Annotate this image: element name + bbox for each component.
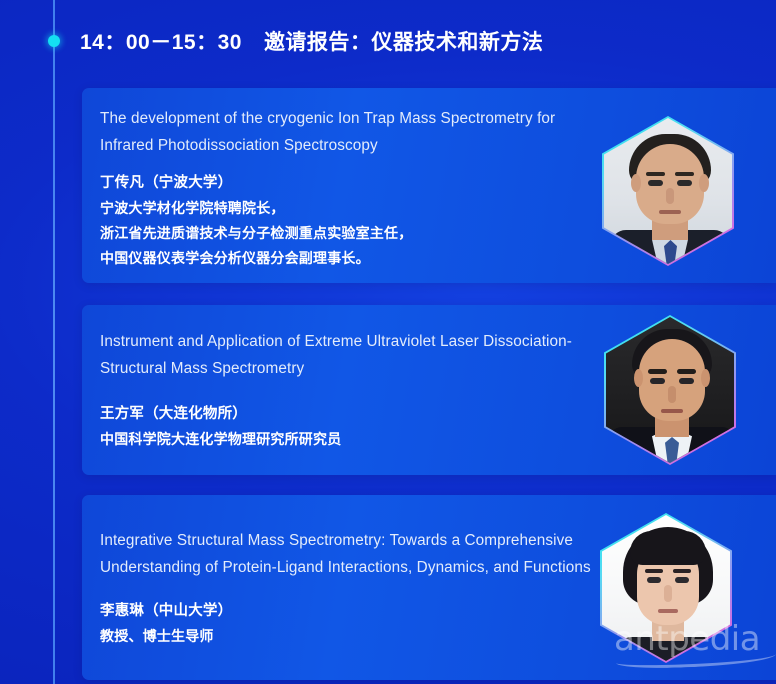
avatar-portrait-image bbox=[604, 118, 732, 264]
speaker-name: 丁传凡（宁波大学） bbox=[100, 171, 596, 196]
timeline-dot-icon bbox=[48, 35, 60, 47]
session-time: 14：00－15：30 bbox=[80, 26, 242, 56]
talk-card-body: Instrument and Application of Extreme Ul… bbox=[100, 305, 596, 475]
talk-card-body: The development of the cryogenic Ion Tra… bbox=[100, 88, 596, 285]
avatar-clip bbox=[604, 118, 732, 264]
talk-card[interactable]: Instrument and Application of Extreme Ul… bbox=[82, 305, 776, 475]
avatar bbox=[604, 315, 736, 465]
speaker-block: 王方军（大连化物所） 中国科学院大连化学物理研究所研究员 bbox=[100, 402, 596, 452]
avatar bbox=[600, 513, 732, 663]
avatar bbox=[602, 116, 734, 266]
session-header: 14：00－15：30 邀请报告：仪器技术和新方法 bbox=[80, 22, 543, 60]
talk-card[interactable]: Integrative Structural Mass Spectrometry… bbox=[82, 495, 776, 680]
avatar-portrait-image bbox=[606, 317, 734, 463]
avatar-clip bbox=[602, 515, 730, 661]
avatar-portrait-image bbox=[602, 515, 730, 661]
speaker-block: 李惠琳（中山大学） 教授、博士生导师 bbox=[100, 599, 596, 649]
speaker-bio-line: 宁波大学材化学院特聘院长， bbox=[100, 196, 596, 221]
speaker-bio-line: 中国科学院大连化学物理研究所研究员 bbox=[100, 427, 596, 452]
talk-title: Instrument and Application of Extreme Ul… bbox=[100, 328, 596, 382]
session-title: 邀请报告：仪器技术和新方法 bbox=[264, 26, 544, 56]
speaker-bio-line: 浙江省先进质谱技术与分子检测重点实验室主任， bbox=[100, 221, 596, 246]
avatar-clip bbox=[606, 317, 734, 463]
talk-card[interactable]: The development of the cryogenic Ion Tra… bbox=[82, 88, 776, 283]
timeline-rail bbox=[53, 0, 55, 684]
speaker-block: 丁传凡（宁波大学） 宁波大学材化学院特聘院长， 浙江省先进质谱技术与分子检测重点… bbox=[100, 171, 596, 271]
speaker-bio-line: 教授、博士生导师 bbox=[100, 624, 596, 649]
talk-title: The development of the cryogenic Ion Tra… bbox=[100, 105, 596, 159]
speaker-name: 李惠琳（中山大学） bbox=[100, 599, 596, 624]
talk-card-body: Integrative Structural Mass Spectrometry… bbox=[100, 495, 596, 680]
talk-title: Integrative Structural Mass Spectrometry… bbox=[100, 527, 596, 581]
speaker-bio-line: 中国仪器仪表学会分析仪器分会副理事长。 bbox=[100, 246, 596, 271]
speaker-name: 王方军（大连化物所） bbox=[100, 402, 596, 427]
